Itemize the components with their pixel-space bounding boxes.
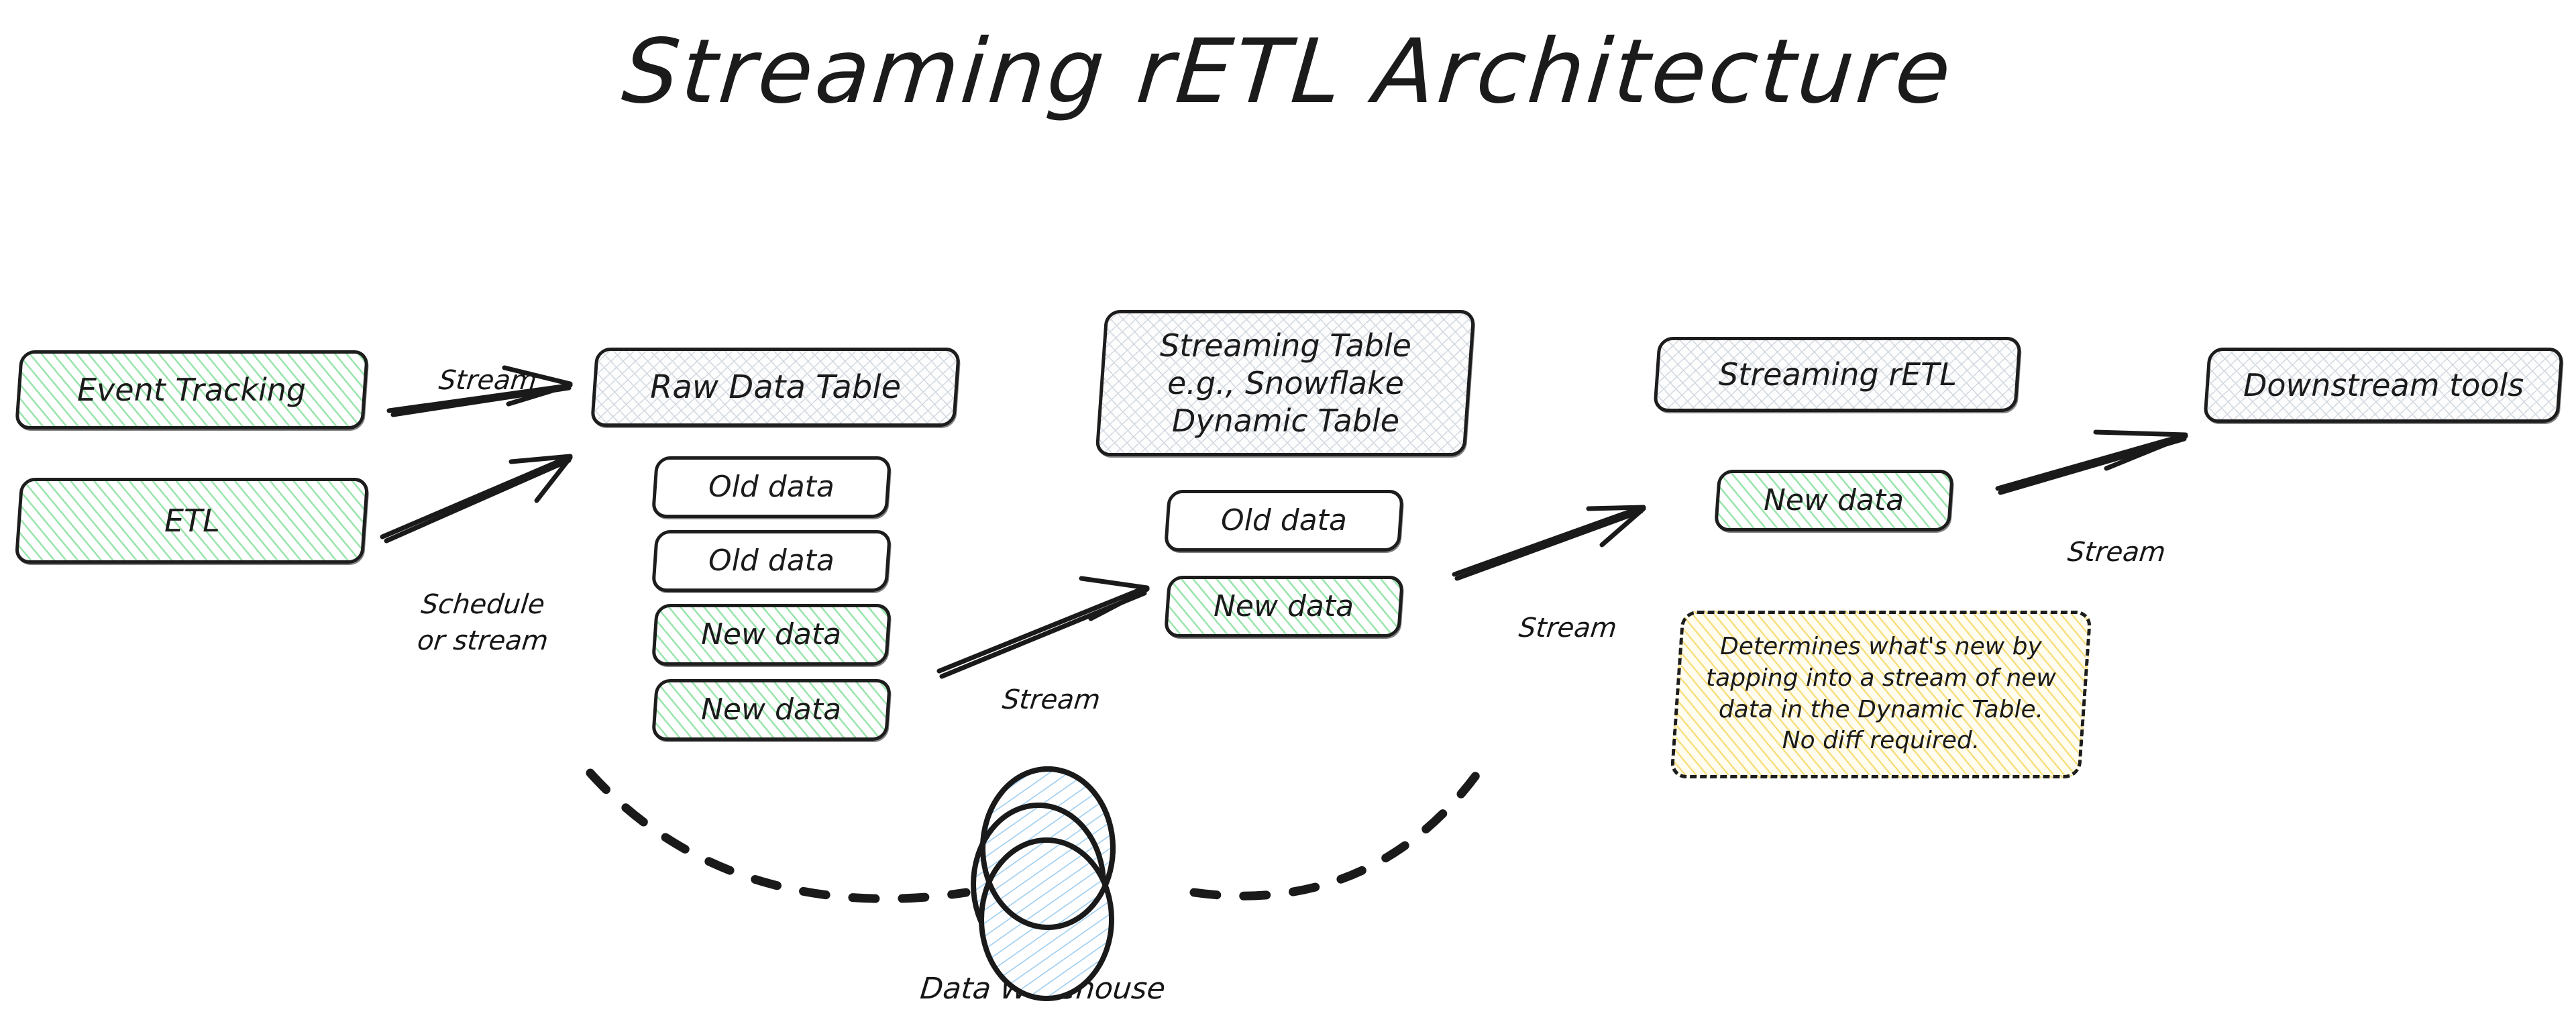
node-raw-data-table[interactable]: Raw Data Table xyxy=(590,348,961,427)
note-dynamic-table-text: Determines what's new by tapping into a … xyxy=(1699,631,2063,757)
raw-row-1[interactable]: Old data xyxy=(651,530,892,592)
edge-label-event-to-raw: Stream xyxy=(412,326,567,399)
raw-row-0[interactable]: Old data xyxy=(651,456,892,518)
node-streaming-table[interactable]: Streaming Table e.g., Snowflake Dynamic … xyxy=(1095,310,1475,456)
dashed-warehouse-link-right xyxy=(1194,766,1483,896)
node-data-warehouse[interactable] xyxy=(973,769,1113,998)
edge-label-etl-to-raw: Schedule or stream xyxy=(415,550,594,659)
page-title: Streaming rETL Architecture xyxy=(0,20,2576,123)
arrow-streaming-table-to-retl xyxy=(1454,507,1644,578)
node-streaming-retl-label: Streaming rETL xyxy=(1711,356,1965,393)
dashed-warehouse-link xyxy=(590,773,966,898)
node-etl-label: ETL xyxy=(156,502,228,539)
retl-row-0-label: New data xyxy=(1756,482,1912,519)
arrow-etl-to-raw xyxy=(382,456,570,541)
node-downstream-tools[interactable]: Downstream tools xyxy=(2203,348,2564,423)
raw-row-0-label: Old data xyxy=(700,469,843,505)
note-dynamic-table: Determines what's new by tapping into a … xyxy=(1670,611,2092,778)
node-downstream-tools-label: Downstream tools xyxy=(2235,366,2532,404)
arrow-retl-to-downstream xyxy=(1998,432,2186,493)
node-etl[interactable]: ETL xyxy=(15,478,370,564)
node-streaming-table-label: Streaming Table e.g., Snowflake Dynamic … xyxy=(1152,327,1419,440)
edge-label-streaming-table-to-retl: Stream xyxy=(1492,574,1647,646)
raw-row-1-label: Old data xyxy=(700,543,843,579)
streaming-row-1-label: New data xyxy=(1205,588,1362,625)
streaming-row-0[interactable]: Old data xyxy=(1164,490,1404,552)
edge-label-raw-to-streaming-table: Stream xyxy=(975,646,1130,718)
node-data-warehouse-label: Data Warehouse xyxy=(918,972,1167,1006)
raw-row-2[interactable]: New data xyxy=(651,604,892,666)
node-raw-data-table-label: Raw Data Table xyxy=(642,368,909,407)
node-event-tracking[interactable]: Event Tracking xyxy=(15,350,369,429)
diagram-canvas: Streaming rETL Architecture Event Tracki… xyxy=(0,0,2576,1028)
raw-row-3-label: New data xyxy=(693,692,849,728)
raw-row-3[interactable]: New data xyxy=(651,679,892,741)
node-event-tracking-label: Event Tracking xyxy=(69,371,314,409)
edge-label-retl-to-downstream: Stream xyxy=(2041,498,2196,570)
raw-row-2-label: New data xyxy=(693,617,849,653)
retl-row-0[interactable]: New data xyxy=(1714,470,1954,531)
node-streaming-retl[interactable]: Streaming rETL xyxy=(1653,337,2022,412)
streaming-row-1[interactable]: New data xyxy=(1164,576,1404,637)
streaming-row-0-label: Old data xyxy=(1213,503,1355,539)
